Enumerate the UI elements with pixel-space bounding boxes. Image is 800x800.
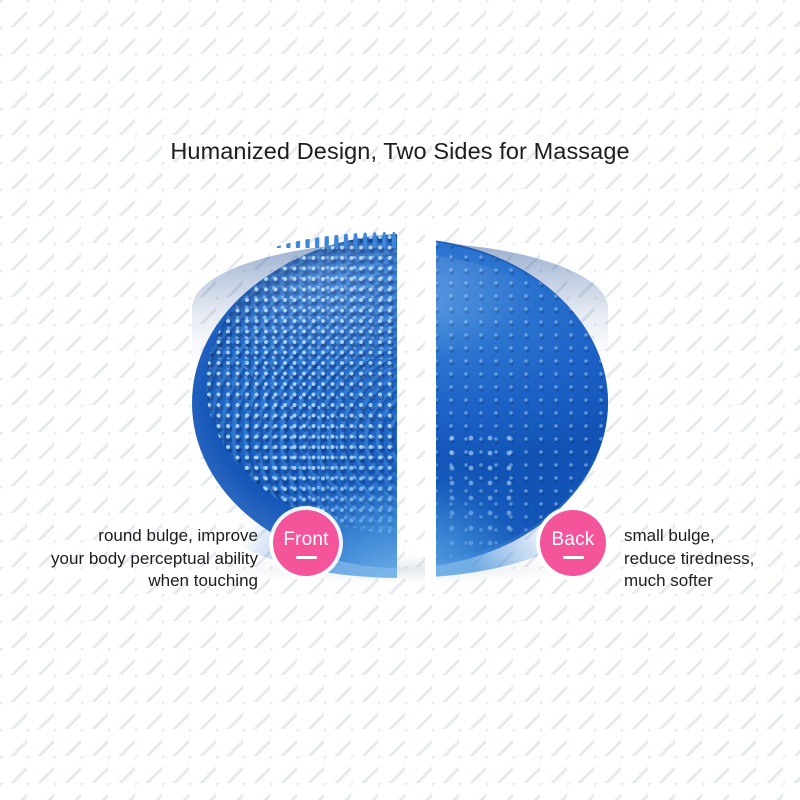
caption-front-line-2: your body perceptual ability — [8, 548, 258, 571]
page-title: Humanized Design, Two Sides for Massage — [0, 138, 800, 165]
caption-back-line-2: reduce tiredness, — [624, 548, 796, 571]
caption-front: round bulge, improve your body perceptua… — [8, 525, 258, 593]
badge-back-underline — [563, 556, 584, 559]
badge-front-label: Front — [283, 530, 328, 549]
halves-divider — [425, 226, 436, 588]
badge-front-underline — [296, 556, 317, 559]
caption-back-line-3: much softer — [624, 570, 796, 593]
badge-front: Front — [273, 510, 339, 576]
badge-back-label: Back — [551, 530, 594, 549]
caption-back: small bulge, reduce tiredness, much soft… — [624, 525, 796, 593]
caption-front-line-1: round bulge, improve — [8, 525, 258, 548]
caption-back-line-1: small bulge, — [624, 525, 796, 548]
product-feature-banner: Humanized Design, Two Sides for Massage — [0, 0, 800, 800]
caption-front-line-3: when touching — [8, 570, 258, 593]
badge-back: Back — [540, 510, 606, 576]
